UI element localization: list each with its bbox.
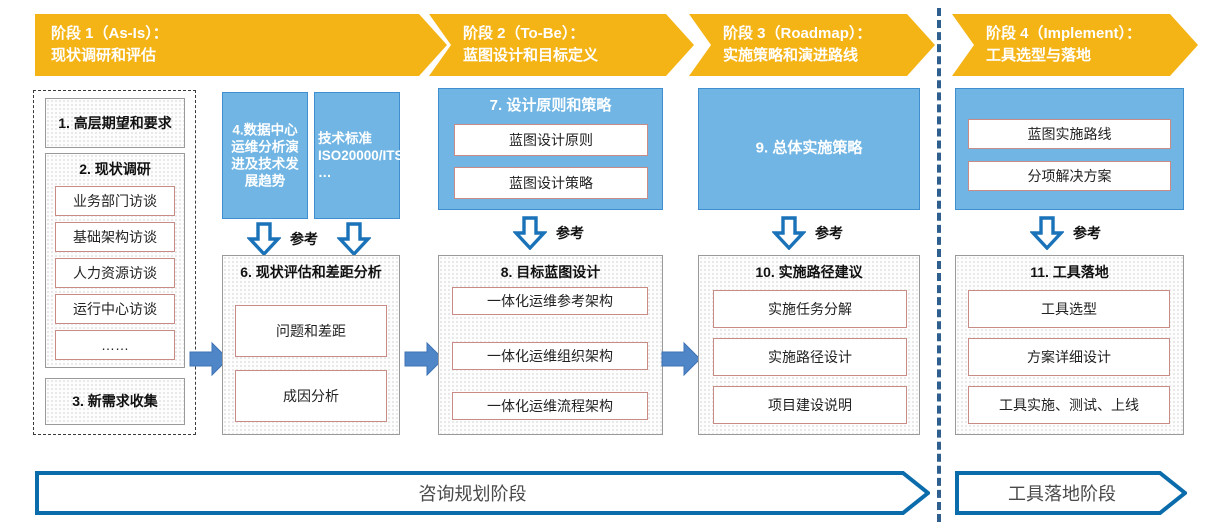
col5-box-11-item-1[interactable]: 方案详细设计 — [968, 338, 1170, 376]
reference-down-arrow-col5 — [1030, 216, 1064, 255]
reference-down-arrow-col4 — [772, 216, 806, 255]
phase-banner-4[interactable]: 阶段 4（Implement）： 工具选型与落地 — [952, 14, 1198, 76]
col1-box-2-item-3[interactable]: 运行中心访谈 — [55, 294, 175, 324]
col3-box-8-item-2[interactable]: 一体化运维流程架构 — [452, 392, 648, 420]
phase-banner-2[interactable]: 阶段 2（To-Be）： 蓝图设计和目标定义 — [429, 14, 694, 76]
flow-arrow-3 — [660, 339, 702, 384]
col4-box-10-title: 10. 实施路径建议 — [699, 264, 919, 282]
col2-box-6-item-1[interactable]: 成因分析 — [235, 370, 387, 422]
col4-box-10-item-1[interactable]: 实施路径设计 — [713, 338, 907, 376]
col5-top-item-1[interactable]: 分项解决方案 — [968, 161, 1171, 191]
col2-box-6-item-0[interactable]: 问题和差距 — [235, 305, 387, 357]
bottom-banner-consulting[interactable]: 咨询规划阶段 — [35, 471, 930, 515]
col1-box-2-item-2[interactable]: 人力资源访谈 — [55, 258, 175, 288]
col1-box-3-title: 3. 新需求收集 — [72, 392, 158, 410]
col3-box-8-item-1[interactable]: 一体化运维组织架构 — [452, 342, 648, 370]
col2-box-4-title: 4.数据中心运维分析演进及技术发展趋势 — [226, 121, 304, 190]
col1-box-3[interactable]: 3. 新需求收集 — [45, 378, 185, 425]
bottom-banner-toolimpl[interactable]: 工具落地阶段 — [955, 471, 1187, 515]
col5-box-11-title: 11. 工具落地 — [956, 264, 1183, 282]
col1-box-1[interactable]: 1. 高层期望和要求 — [45, 98, 185, 148]
phase-banner-2-line1: 阶段 2（To-Be）： — [463, 23, 694, 45]
col3-box-8-item-0[interactable]: 一体化运维参考架构 — [452, 287, 648, 315]
phase-banner-4-line1: 阶段 4（Implement）： — [986, 23, 1198, 45]
phase-banner-1-line1: 阶段 1（As-Is）： — [51, 23, 447, 45]
phase-banner-4-line2: 工具选型与落地 — [986, 45, 1198, 67]
col4-box-9[interactable]: 9. 总体实施策略 — [698, 88, 920, 210]
phase-group-divider — [937, 8, 941, 522]
col4-box-10-item-0[interactable]: 实施任务分解 — [713, 290, 907, 328]
col2-box-6-title: 6. 现状评估和差距分析 — [231, 264, 391, 282]
reference-label-col4: 参考 — [815, 223, 843, 243]
reference-label-col3: 参考 — [556, 223, 584, 243]
col1-box-2-item-1[interactable]: 基础架构访谈 — [55, 222, 175, 252]
col2-standards-title: 技术标准ISO20000/ITSS/ITIL… … — [318, 130, 396, 182]
phase-banner-3[interactable]: 阶段 3（Roadmap）： 实施策略和演进路线 — [689, 14, 935, 76]
col3-box-8-title: 8. 目标蓝图设计 — [439, 264, 662, 282]
phase-banner-1[interactable]: 阶段 1（As-Is）： 现状调研和评估 — [35, 14, 447, 76]
bottom-banner-toolimpl-label: 工具落地阶段 — [955, 471, 1187, 515]
phase-banner-1-line2: 现状调研和评估 — [51, 45, 447, 67]
col5-box-11-item-0[interactable]: 工具选型 — [968, 290, 1170, 328]
col2-box-4[interactable]: 4.数据中心运维分析演进及技术发展趋势 — [222, 92, 308, 219]
reference-label-col2: 参考 — [290, 229, 318, 249]
col2-standards-box[interactable]: 技术标准ISO20000/ITSS/ITIL… … — [314, 92, 400, 219]
reference-down-arrow-col3 — [513, 216, 547, 255]
col1-box-2-item-0[interactable]: 业务部门访谈 — [55, 186, 175, 216]
bottom-banner-consulting-label: 咨询规划阶段 — [35, 471, 930, 515]
col5-box-11-item-2[interactable]: 工具实施、测试、上线 — [968, 386, 1170, 424]
phase-banner-3-line2: 实施策略和演进路线 — [723, 45, 935, 67]
col5-top-panel[interactable] — [955, 88, 1184, 210]
col1-box-2-item-4[interactable]: …… — [55, 330, 175, 360]
col5-top-item-0[interactable]: 蓝图实施路线 — [968, 119, 1171, 149]
col4-box-10-item-2[interactable]: 项目建设说明 — [713, 386, 907, 424]
col4-box-9-title: 9. 总体实施策略 — [699, 140, 919, 159]
col1-box-2-title: 2. 现状调研 — [46, 161, 184, 179]
col3-box-7-item-0[interactable]: 蓝图设计原则 — [454, 124, 648, 156]
phase-banner-3-line1: 阶段 3（Roadmap）： — [723, 23, 935, 45]
col1-box-1-title: 1. 高层期望和要求 — [58, 114, 172, 132]
col3-box-7-title: 7. 设计原则和策略 — [439, 97, 662, 116]
col3-box-7-item-1[interactable]: 蓝图设计策略 — [454, 167, 648, 199]
reference-label-col5: 参考 — [1073, 223, 1101, 243]
phase-banner-2-line2: 蓝图设计和目标定义 — [463, 45, 694, 67]
